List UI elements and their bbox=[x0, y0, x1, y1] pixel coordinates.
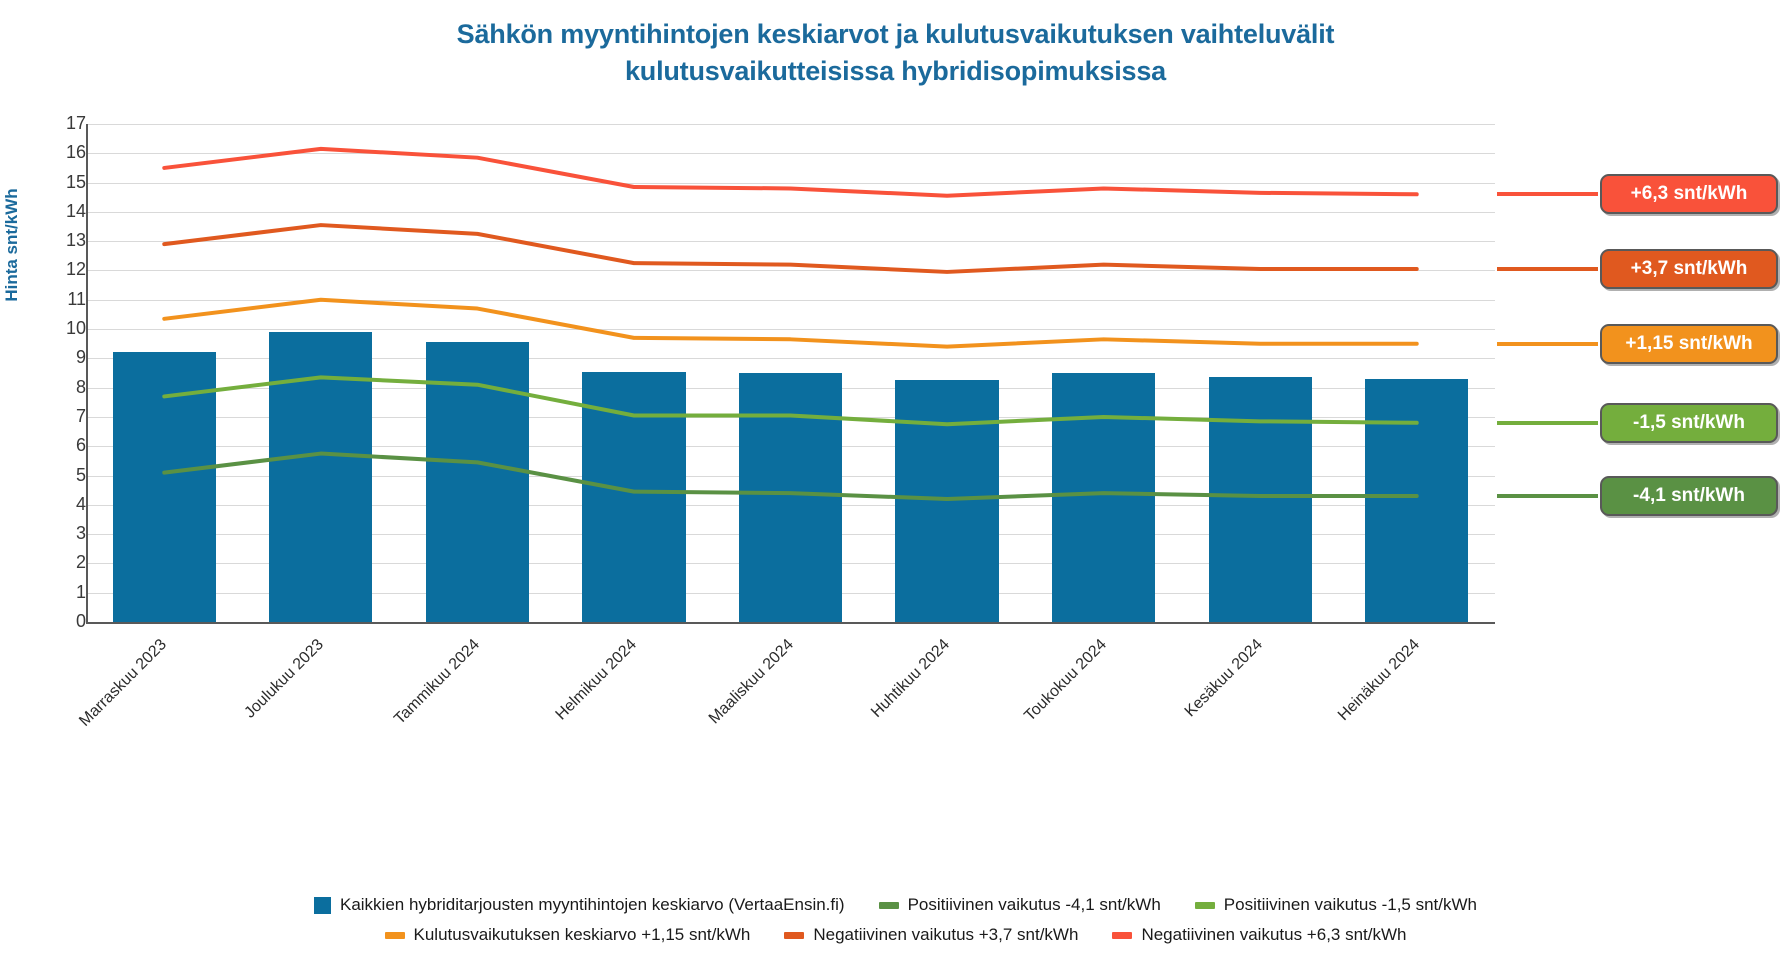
grid-line bbox=[86, 124, 1495, 125]
legend-label: Kulutusvaikutuksen keskiarvo +1,15 snt/k… bbox=[414, 925, 751, 945]
y-tick-label: 11 bbox=[46, 289, 86, 310]
y-tick-label: 16 bbox=[46, 142, 86, 163]
y-tick-label: 7 bbox=[46, 406, 86, 427]
legend-line-swatch-icon bbox=[385, 932, 405, 939]
grid-line bbox=[86, 300, 1495, 301]
y-tick-label: 5 bbox=[46, 465, 86, 486]
legend-label: Positiivinen vaikutus -1,5 snt/kWh bbox=[1224, 895, 1477, 915]
grid-line bbox=[86, 183, 1495, 184]
callout-connector bbox=[1497, 192, 1598, 196]
y-tick-label: 10 bbox=[46, 318, 86, 339]
y-tick-label: 6 bbox=[46, 435, 86, 456]
grid-line bbox=[86, 241, 1495, 242]
y-tick-label: 14 bbox=[46, 201, 86, 222]
callout-positive-41: -4,1 snt/kWh bbox=[1600, 476, 1778, 516]
grid-line bbox=[86, 329, 1495, 330]
x-tick-label: Helmikuu 2024 bbox=[552, 636, 640, 724]
y-tick-label: 4 bbox=[46, 494, 86, 515]
y-tick-label: 2 bbox=[46, 552, 86, 573]
y-tick-label: 1 bbox=[46, 582, 86, 603]
callout-connector bbox=[1497, 494, 1598, 498]
y-tick-label: 3 bbox=[46, 523, 86, 544]
legend-label: Negatiivinen vaikutus +6,3 snt/kWh bbox=[1141, 925, 1406, 945]
legend-item-negative-63[interactable]: Negatiivinen vaikutus +6,3 snt/kWh bbox=[1112, 925, 1406, 945]
x-tick-label: Joulukuu 2023 bbox=[241, 636, 327, 722]
bar bbox=[113, 352, 216, 622]
chart-plot-area: Hinta snt/kWh 17161514131211109876543210… bbox=[0, 0, 1791, 960]
legend-item-positive-15[interactable]: Positiivinen vaikutus -1,5 snt/kWh bbox=[1195, 895, 1477, 915]
bar bbox=[1365, 379, 1468, 622]
y-axis-line bbox=[86, 124, 88, 622]
legend-row: Kulutusvaikutuksen keskiarvo +1,15 snt/k… bbox=[0, 920, 1791, 950]
x-tick-label: Heinäkuu 2024 bbox=[1335, 636, 1424, 725]
callout-connector bbox=[1497, 342, 1598, 346]
legend-line-swatch-icon bbox=[879, 902, 899, 909]
legend-item-negative-37[interactable]: Negatiivinen vaikutus +3,7 snt/kWh bbox=[784, 925, 1078, 945]
bar bbox=[269, 332, 372, 622]
bar bbox=[426, 342, 529, 622]
callout-positive-15: -1,5 snt/kWh bbox=[1600, 403, 1778, 443]
x-tick-label: Huhtikuu 2024 bbox=[868, 636, 954, 722]
legend-label: Negatiivinen vaikutus +3,7 snt/kWh bbox=[813, 925, 1078, 945]
legend-line-swatch-icon bbox=[1195, 902, 1215, 909]
legend-line-swatch-icon bbox=[784, 932, 804, 939]
y-tick-label: 15 bbox=[46, 172, 86, 193]
grid-line bbox=[86, 270, 1495, 271]
legend-label: Kaikkien hybriditarjousten myyntihintoje… bbox=[340, 895, 845, 915]
series-line bbox=[164, 225, 1416, 272]
bar bbox=[895, 380, 998, 622]
grid-line bbox=[86, 153, 1495, 154]
bar bbox=[1209, 377, 1312, 622]
y-tick-label: 13 bbox=[46, 230, 86, 251]
legend-line-swatch-icon bbox=[1112, 932, 1132, 939]
bar bbox=[582, 372, 685, 622]
series-line bbox=[164, 149, 1416, 196]
callout-negative-37: +3,7 snt/kWh bbox=[1600, 249, 1778, 289]
callout-connector bbox=[1497, 421, 1598, 425]
bar bbox=[1052, 373, 1155, 622]
legend-item-positive-41[interactable]: Positiivinen vaikutus -4,1 snt/kWh bbox=[879, 895, 1161, 915]
x-tick-label: Kesäkuu 2024 bbox=[1182, 636, 1267, 721]
chart-legend: Kaikkien hybriditarjousten myyntihintoje… bbox=[0, 890, 1791, 950]
grid-line bbox=[86, 212, 1495, 213]
y-tick-label: 0 bbox=[46, 611, 86, 632]
x-tick-label: Toukokuu 2024 bbox=[1021, 636, 1110, 725]
legend-label: Positiivinen vaikutus -4,1 snt/kWh bbox=[908, 895, 1161, 915]
x-tick-label: Marraskuu 2023 bbox=[77, 636, 171, 730]
bar bbox=[739, 373, 842, 622]
legend-bar-swatch-icon bbox=[314, 897, 331, 914]
x-axis-line bbox=[86, 622, 1495, 624]
y-tick-label: 8 bbox=[46, 377, 86, 398]
callout-average-115: +1,15 snt/kWh bbox=[1600, 324, 1778, 364]
y-tick-label: 12 bbox=[46, 259, 86, 280]
legend-item-bar-average[interactable]: Kaikkien hybriditarjousten myyntihintoje… bbox=[314, 895, 845, 915]
callout-negative-63: +6,3 snt/kWh bbox=[1600, 174, 1778, 214]
legend-row: Kaikkien hybriditarjousten myyntihintoje… bbox=[0, 890, 1791, 920]
y-tick-label: 17 bbox=[46, 113, 86, 134]
x-tick-label: Maaliskuu 2024 bbox=[705, 636, 797, 728]
callout-connector bbox=[1497, 267, 1598, 271]
y-axis-ticks: 17161514131211109876543210 bbox=[40, 0, 86, 960]
y-axis-label: Hinta snt/kWh bbox=[2, 145, 22, 345]
x-tick-label: Tammikuu 2024 bbox=[392, 636, 485, 729]
legend-item-average-115[interactable]: Kulutusvaikutuksen keskiarvo +1,15 snt/k… bbox=[385, 925, 751, 945]
y-tick-label: 9 bbox=[46, 347, 86, 368]
